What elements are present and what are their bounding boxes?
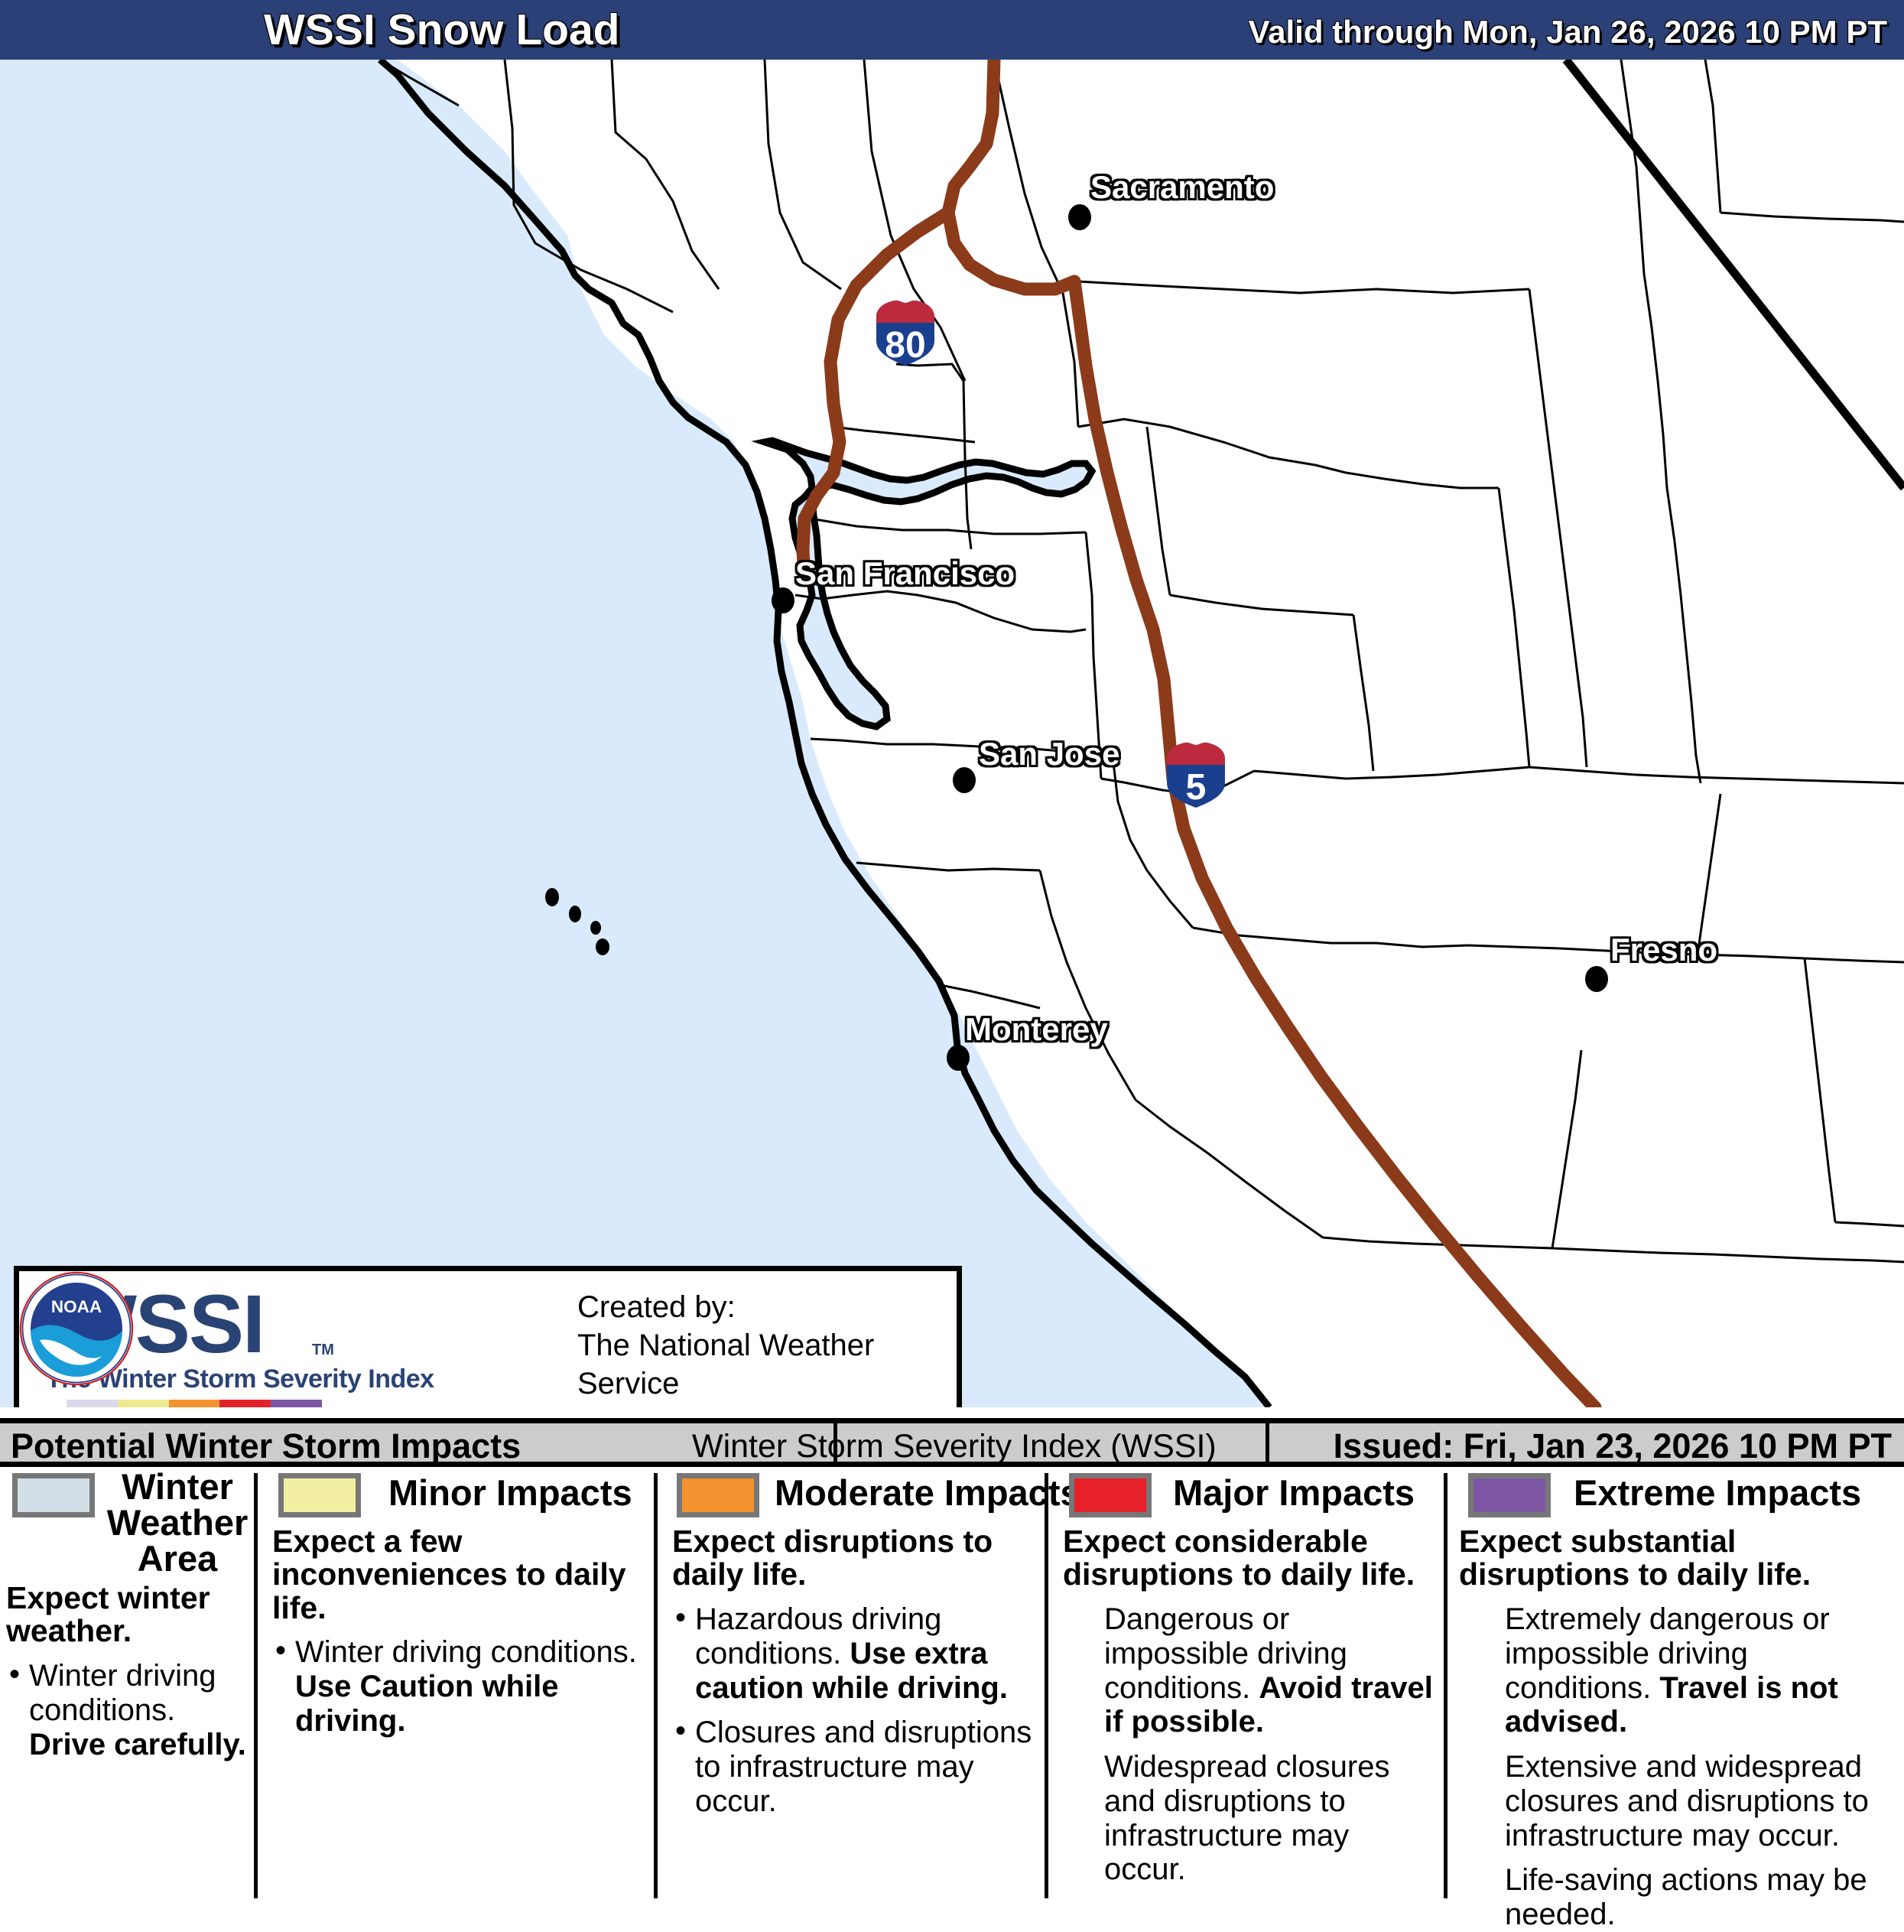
- land-polygon: [380, 60, 1904, 1407]
- impact-lead-major-impacts: Expect considerable disruptions to daily…: [1051, 1525, 1438, 1592]
- city-dot-sacramento: [1068, 204, 1091, 230]
- color-swatch-moderate: [169, 1400, 220, 1407]
- created-by-line-1: Created by:: [577, 1288, 957, 1326]
- city-dot-monterey: [947, 1045, 970, 1071]
- column-divider: [1045, 1473, 1048, 1898]
- list-item: •Hazardous driving conditions. Use extra…: [672, 1602, 1038, 1705]
- column-divider: [1444, 1473, 1447, 1898]
- impact-bullets-extreme-impacts: Extremely dangerous or impossible drivin…: [1450, 1602, 1898, 1932]
- noaa-seal-icon: NOAA: [19, 1271, 134, 1386]
- interstate-shield-80-number: 80: [873, 324, 937, 366]
- impact-bullets-winter-weather-area: •Winter driving conditions. Drive carefu…: [6, 1659, 248, 1761]
- impact-title-extreme-impacts: Extreme Impacts: [1574, 1472, 1861, 1514]
- color-swatch-minor: [118, 1400, 169, 1407]
- list-item: Widespread closures and disruptions to i…: [1081, 1750, 1438, 1887]
- city-label-monterey: Monterey: [965, 1011, 1108, 1048]
- wssi-severity-color-bar: [67, 1400, 322, 1407]
- color-swatch-major: [219, 1400, 271, 1407]
- bullet-icon: •: [275, 1634, 286, 1668]
- swatch-moderate-impacts: [677, 1473, 759, 1517]
- column-divider: [254, 1473, 258, 1898]
- map-canvas[interactable]: Sacramento San Francisco San Jose Fresno…: [0, 60, 1904, 1407]
- impact-title-winter-weather-area: Winter Weather Area: [101, 1469, 254, 1576]
- list-item: Dangerous or impossible driving conditio…: [1081, 1602, 1438, 1739]
- created-by-block: Created by: The National Weather Service…: [577, 1288, 957, 1407]
- list-item: Extremely dangerous or impossible drivin…: [1482, 1602, 1898, 1739]
- list-item: Extensive and widespread closures and di…: [1482, 1750, 1898, 1852]
- swatch-minor-impacts: [278, 1473, 361, 1517]
- color-swatch-extreme: [271, 1400, 322, 1407]
- impact-column-moderate-impacts[interactable]: Moderate Impacts Expect disruptions to d…: [654, 1467, 1045, 1904]
- city-label-san-jose: San Jose: [979, 736, 1119, 772]
- city-label-fresno: Fresno: [1610, 932, 1717, 968]
- island-dot: [590, 921, 601, 935]
- header-bar: WSSI Snow Load Valid through Mon, Jan 26…: [0, 0, 1904, 60]
- status-bar: Potential Winter Storm Impacts Winter St…: [0, 1418, 1904, 1467]
- status-bar-divider-right: [1266, 1423, 1269, 1462]
- map-vector-layer: [0, 60, 1904, 1407]
- wssi-logo-panel: WSSI TM The Winter Storm Severity Index: [14, 1266, 962, 1407]
- impact-lead-winter-weather-area: Expect winter weather.: [6, 1582, 248, 1648]
- wssi-trademark-mark: TM: [312, 1342, 334, 1359]
- impact-lead-moderate-impacts: Expect disruptions to daily life.: [660, 1525, 1038, 1592]
- city-label-sacramento: Sacramento: [1090, 169, 1274, 206]
- status-bar-issued: Issued: Fri, Jan 23, 2026 10 PM PT: [1334, 1426, 1892, 1466]
- list-item: •Winter driving conditions. Use Caution …: [272, 1635, 648, 1738]
- status-bar-title: Potential Winter Storm Impacts: [11, 1426, 521, 1466]
- noaa-seal-label: NOAA: [51, 1297, 102, 1316]
- impact-column-winter-weather-area[interactable]: Winter Weather Area Expect winter weathe…: [0, 1467, 254, 1904]
- island-dot: [545, 888, 559, 906]
- impact-column-extreme-impacts[interactable]: Extreme Impacts Expect substantial disru…: [1444, 1467, 1904, 1904]
- created-by-line-2: The National Weather Service: [577, 1326, 957, 1403]
- interstate-shield-80: 80: [873, 297, 937, 367]
- column-divider: [654, 1473, 658, 1898]
- impact-column-major-impacts[interactable]: Major Impacts Expect considerable disrup…: [1045, 1467, 1444, 1904]
- color-swatch-winter-weather: [67, 1400, 118, 1407]
- swatch-extreme-impacts: [1468, 1473, 1551, 1517]
- created-by-line-3: Weather Prediction Center: [577, 1403, 957, 1407]
- impact-bullets-moderate-impacts: •Hazardous driving conditions. Use extra…: [660, 1602, 1038, 1819]
- valid-through-text: Valid through Mon, Jan 26, 2026 10 PM PT: [1248, 14, 1887, 50]
- interstate-shield-5-number: 5: [1164, 766, 1228, 808]
- bullet-icon: •: [9, 1657, 20, 1692]
- page-title: WSSI Snow Load: [264, 5, 620, 55]
- status-bar-index: Winter Storm Severity Index (WSSI): [692, 1428, 1217, 1465]
- bullet-icon: •: [675, 1714, 686, 1748]
- city-label-san-francisco: San Francisco: [795, 555, 1015, 592]
- island-dot: [569, 906, 581, 922]
- impact-column-minor-impacts[interactable]: Minor Impacts Expect a few inconvenience…: [254, 1467, 654, 1904]
- list-item: Life-saving actions may be needed.: [1482, 1863, 1898, 1932]
- impact-bullets-minor-impacts: •Winter driving conditions. Use Caution …: [260, 1635, 648, 1738]
- impact-lead-extreme-impacts: Expect substantial disruptions to daily …: [1450, 1525, 1898, 1592]
- swatch-major-impacts: [1069, 1473, 1152, 1517]
- impact-bullets-major-impacts: Dangerous or impossible driving conditio…: [1051, 1602, 1438, 1887]
- city-dot-san-francisco: [772, 587, 794, 613]
- bullet-icon: •: [675, 1601, 686, 1635]
- list-item: •Closures and disruptions to infrastruct…: [672, 1716, 1038, 1818]
- impact-lead-minor-impacts: Expect a few inconveniences to daily lif…: [260, 1525, 648, 1625]
- swatch-winter-weather-area: [12, 1473, 95, 1517]
- city-dot-san-jose: [953, 767, 976, 793]
- impact-title-minor-impacts: Minor Impacts: [388, 1472, 632, 1514]
- wssi-snow-load-graphic: WSSI Snow Load Valid through Mon, Jan 26…: [0, 0, 1904, 1904]
- interstate-shield-5: 5: [1164, 739, 1228, 809]
- island-dot: [596, 938, 609, 955]
- list-item: •Winter driving conditions. Drive carefu…: [6, 1659, 248, 1761]
- impact-title-moderate-impacts: Moderate Impacts: [775, 1472, 1080, 1514]
- impact-title-major-impacts: Major Impacts: [1173, 1472, 1415, 1514]
- city-dot-fresno: [1585, 966, 1608, 992]
- impact-legend: Winter Weather Area Expect winter weathe…: [0, 1467, 1904, 1904]
